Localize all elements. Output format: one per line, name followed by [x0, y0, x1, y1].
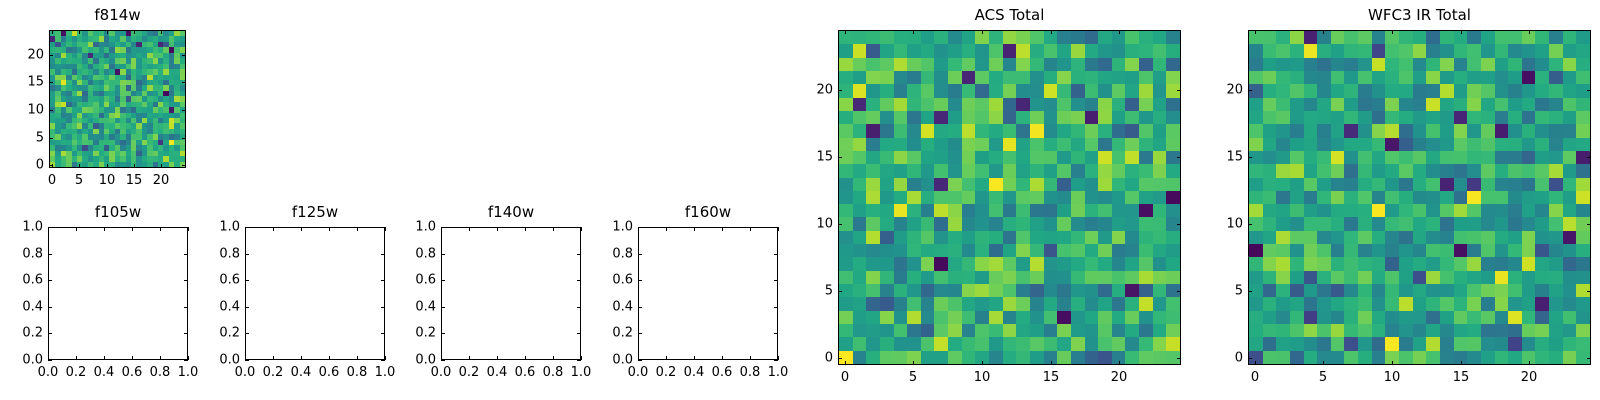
heatmap-cell [1044, 71, 1058, 84]
heatmap-cell [1085, 191, 1099, 204]
heatmap-cell [1549, 217, 1563, 230]
x-tick-mark-top [694, 227, 695, 231]
heatmap-cell [1467, 191, 1481, 204]
heatmap-cell [1125, 217, 1139, 230]
heatmap-cell [989, 257, 1003, 270]
heatmap-cell [1030, 271, 1044, 284]
heatmap-cell [1522, 297, 1536, 310]
heatmap-cell [1535, 204, 1549, 217]
heatmap-cell [1563, 191, 1577, 204]
heatmap-cell [1426, 297, 1440, 310]
heatmap-cell [1125, 231, 1139, 244]
y-tick-mark [1248, 291, 1252, 292]
heatmap-cell [1563, 71, 1577, 84]
heatmap-cell [880, 178, 894, 191]
heatmap-cell [1304, 178, 1318, 191]
heatmap-cell [1440, 204, 1454, 217]
heatmap-cell [1413, 31, 1427, 44]
heatmap-cell [1481, 297, 1495, 310]
heatmap-cell [1044, 98, 1058, 111]
heatmap-cell [853, 71, 867, 84]
heatmap-cell [1413, 284, 1427, 297]
heatmap-cell [1317, 204, 1331, 217]
heatmap-cell [1071, 284, 1085, 297]
x-tick-mark-top [982, 30, 983, 34]
heatmap-cell [1263, 98, 1277, 111]
y-tick-mark [245, 254, 249, 255]
heatmap-cell [1563, 244, 1577, 257]
heatmap-cell [1467, 231, 1481, 244]
heatmap-cell [934, 71, 948, 84]
heatmap-cell [1249, 337, 1263, 350]
heatmap-cell [1372, 138, 1386, 151]
y-tick-mark-right [774, 227, 778, 228]
heatmap-cell [1331, 337, 1345, 350]
heatmap-cell [1263, 191, 1277, 204]
heatmap-cell [1276, 164, 1290, 177]
y-tick-label: 5 [1235, 285, 1243, 298]
heatmap-cell [1563, 58, 1577, 71]
heatmap-cell [1508, 58, 1522, 71]
y-tick-label: 1.0 [22, 221, 43, 234]
heatmap-cell [1304, 151, 1318, 164]
heatmap-cell [1495, 71, 1509, 84]
heatmap-cell [975, 297, 989, 310]
heatmap-cell [1454, 111, 1468, 124]
y-tick-mark-right [1177, 224, 1181, 225]
heatmap-cell [948, 204, 962, 217]
x-tick-label: 0.6 [712, 366, 733, 379]
heatmap-cell [1153, 297, 1167, 310]
heatmap-cell [1576, 337, 1590, 350]
heatmap-cell [1317, 58, 1331, 71]
heatmap-cell [866, 31, 880, 44]
heatmap-cell [1153, 111, 1167, 124]
heatmap-cell [921, 178, 935, 191]
heatmap-cell [853, 217, 867, 230]
heatmap-cell [921, 191, 935, 204]
heatmap-cell [948, 138, 962, 151]
x-tick-label: 0.6 [122, 366, 143, 379]
heatmap-cell [1399, 231, 1413, 244]
heatmap-cell [1317, 271, 1331, 284]
heatmap-cell [1304, 58, 1318, 71]
heatmap-cell [1276, 284, 1290, 297]
heatmap-cell [1426, 71, 1440, 84]
y-tick-label: 0.0 [415, 354, 436, 367]
heatmap-cell [948, 311, 962, 324]
heatmap-cell [1166, 257, 1180, 270]
heatmap-cell [1344, 351, 1358, 364]
heatmap-cell [1166, 178, 1180, 191]
heatmap-cell [1249, 138, 1263, 151]
heatmap-cell [1016, 111, 1030, 124]
heatmap-cell [1331, 98, 1345, 111]
heatmap-cell [1030, 217, 1044, 230]
heatmap-cell [1372, 351, 1386, 364]
heatmap-cell [1276, 257, 1290, 270]
x-tick-label: 20 [1111, 371, 1128, 384]
heatmap-cell [1071, 138, 1085, 151]
x-tick-mark-top [160, 227, 161, 231]
heatmap-cell [1413, 71, 1427, 84]
heatmap-cell [1139, 164, 1153, 177]
heatmap-cell [921, 351, 935, 364]
heatmap-cell [921, 31, 935, 44]
heatmap-cell [1535, 124, 1549, 137]
heatmap-cell [934, 257, 948, 270]
heatmap-cell [1057, 271, 1071, 284]
heatmap-cell [1563, 351, 1577, 364]
heatmap-cell [1044, 124, 1058, 137]
heatmap-cell [934, 271, 948, 284]
heatmap-cell [1344, 204, 1358, 217]
heatmap-cell [1139, 204, 1153, 217]
heatmap-cell [1426, 337, 1440, 350]
y-tick-mark [638, 227, 642, 228]
heatmap-cell [1153, 138, 1167, 151]
heatmap-cell [1290, 98, 1304, 111]
heatmap-cell [1317, 164, 1331, 177]
heatmap-cell [1495, 178, 1509, 191]
y-tick-mark [1248, 90, 1252, 91]
x-tick-mark [553, 356, 554, 360]
heatmap-cell [1057, 151, 1071, 164]
heatmap-cell [1385, 244, 1399, 257]
x-tick-label: 0.8 [543, 366, 564, 379]
heatmap-cell [1454, 44, 1468, 57]
y-tick-mark [441, 254, 445, 255]
y-tick-mark [441, 333, 445, 334]
heatmap-cell [962, 204, 976, 217]
heatmap-cell [1563, 151, 1577, 164]
heatmap-cell [1317, 324, 1331, 337]
heatmap-cell [1331, 311, 1345, 324]
heatmap-cell [853, 297, 867, 310]
heatmap-cell [880, 244, 894, 257]
y-tick-mark [245, 227, 249, 228]
heatmap-cell [1030, 204, 1044, 217]
heatmap-cell [1549, 351, 1563, 364]
x-tick-label: 1.0 [178, 366, 199, 379]
x-tick-mark [722, 356, 723, 360]
heatmap-cell [894, 284, 908, 297]
heatmap-cell [1044, 84, 1058, 97]
heatmap-cell [1016, 98, 1030, 111]
heatmap-cell [1030, 244, 1044, 257]
x-tick-mark [161, 164, 162, 168]
heatmap-cell [1344, 257, 1358, 270]
heatmap-cell [1166, 231, 1180, 244]
subplot-title-wfc3-ir-total: WFC3 IR Total [1248, 8, 1591, 23]
subplot-f814w: f814w0510152005101520 [49, 30, 186, 168]
y-tick-label: 10 [1226, 218, 1243, 231]
heatmap-cell [1030, 84, 1044, 97]
heatmap-cell [907, 58, 921, 71]
axes-f105w [48, 227, 188, 360]
heatmap-cell [907, 297, 921, 310]
heatmap-cell [1426, 217, 1440, 230]
heatmap-cell [1003, 204, 1017, 217]
heatmap-cell [1454, 244, 1468, 257]
heatmap-cell [1372, 31, 1386, 44]
heatmap-cell [1139, 351, 1153, 364]
heatmap-cell [1426, 178, 1440, 191]
heatmap-cell [1317, 44, 1331, 57]
heatmap-cell [1481, 71, 1495, 84]
heatmap-cell [1508, 84, 1522, 97]
heatmap-cell [1454, 204, 1468, 217]
heatmap-cell [894, 58, 908, 71]
heatmap-cell [1508, 204, 1522, 217]
heatmap-cell [1413, 337, 1427, 350]
heatmap-cell [1535, 178, 1549, 191]
x-tick-mark-top [301, 227, 302, 231]
heatmap-cell [1016, 58, 1030, 71]
heatmap-cell [1317, 297, 1331, 310]
y-tick-mark-right [577, 227, 581, 228]
x-tick-mark-top [1392, 30, 1393, 34]
heatmap-cell [1003, 257, 1017, 270]
x-tick-label: 0 [841, 371, 849, 384]
heatmap-cell [934, 297, 948, 310]
heatmap-cell [1535, 351, 1549, 364]
heatmap-cell [1263, 324, 1277, 337]
heatmap-cell [1331, 284, 1345, 297]
heatmap-cell [989, 231, 1003, 244]
heatmap-cell [1385, 271, 1399, 284]
heatmap-cell [1304, 231, 1318, 244]
heatmap-cell [1071, 191, 1085, 204]
x-tick-mark [1323, 361, 1324, 365]
heatmap-cell [1413, 244, 1427, 257]
heatmap-cell [1304, 217, 1318, 230]
heatmap-cell [894, 297, 908, 310]
heatmap-cell [1413, 98, 1427, 111]
heatmap-cell [866, 257, 880, 270]
heatmap-cell [1372, 151, 1386, 164]
y-tick-mark [838, 291, 842, 292]
heatmap-cell [1317, 151, 1331, 164]
heatmap-cell [1440, 31, 1454, 44]
heatmap-cell [1276, 271, 1290, 284]
heatmap-cell [1358, 217, 1372, 230]
heatmap-cell [1372, 231, 1386, 244]
heatmap-cell [934, 284, 948, 297]
heatmap-cell [962, 351, 976, 364]
heatmap-cell [1576, 58, 1590, 71]
heatmap-cell [1030, 284, 1044, 297]
heatmap-cell [1535, 138, 1549, 151]
heatmap-cell [1522, 138, 1536, 151]
heatmap-cell [1263, 337, 1277, 350]
x-tick-mark-top [845, 30, 846, 34]
heatmap-cell [1304, 324, 1318, 337]
heatmap-cell [1426, 271, 1440, 284]
heatmap-cell [1563, 257, 1577, 270]
heatmap-cell [1399, 151, 1413, 164]
heatmap-cell [1112, 244, 1126, 257]
heatmap-cell [1263, 217, 1277, 230]
heatmap-cell [1440, 324, 1454, 337]
heatmap-cell [853, 311, 867, 324]
heatmap-cell [1112, 138, 1126, 151]
x-tick-mark-top [1461, 30, 1462, 34]
y-tick-mark [638, 307, 642, 308]
heatmap-cell [1016, 164, 1030, 177]
heatmap-cell [1030, 178, 1044, 191]
heatmap-cell [1112, 111, 1126, 124]
x-tick-mark [76, 356, 77, 360]
x-tick-mark [104, 356, 105, 360]
y-tick-label: 15 [1226, 151, 1243, 164]
y-tick-label: 10 [816, 218, 833, 231]
heatmap-cell [853, 204, 867, 217]
heatmap-cell [1125, 337, 1139, 350]
heatmap-cell [1563, 271, 1577, 284]
heatmap-cell [866, 71, 880, 84]
heatmap-cell [921, 164, 935, 177]
heatmap-cell [1563, 217, 1577, 230]
heatmap-cell [1549, 31, 1563, 44]
heatmap-cell [1563, 124, 1577, 137]
x-tick-mark-top [79, 30, 80, 34]
heatmap-cell [1481, 217, 1495, 230]
heatmap-cell [1085, 84, 1099, 97]
heatmap-cell [1372, 324, 1386, 337]
heatmap-cell [880, 98, 894, 111]
heatmap-cell [839, 337, 853, 350]
y-tick-label: 0.4 [219, 301, 240, 314]
heatmap-cell [1263, 297, 1277, 310]
heatmap-cell [1344, 217, 1358, 230]
x-tick-mark-top [107, 30, 108, 34]
heatmap-cell [1467, 151, 1481, 164]
heatmap-cell [1153, 71, 1167, 84]
heatmap-cell [1440, 191, 1454, 204]
heatmap-cell [934, 111, 948, 124]
heatmap-cell [853, 111, 867, 124]
heatmap-cell [1344, 138, 1358, 151]
heatmap-cell [1166, 324, 1180, 337]
heatmap-cell [1057, 257, 1071, 270]
x-tick-mark-top [1529, 30, 1530, 34]
heatmap-cell [1112, 297, 1126, 310]
heatmap-cell [1125, 351, 1139, 364]
heatmap-cell [1576, 191, 1590, 204]
heatmap-cell [1372, 58, 1386, 71]
heatmap-cell [1549, 44, 1563, 57]
heatmap-cell [1495, 351, 1509, 364]
heatmap-cell [1508, 44, 1522, 57]
y-tick-mark-right [184, 254, 188, 255]
heatmap-cell [839, 244, 853, 257]
heatmap-cell [1467, 204, 1481, 217]
x-tick-label: 0.0 [628, 366, 649, 379]
heatmap-cell [1549, 284, 1563, 297]
heatmap-cell [1331, 257, 1345, 270]
heatmap-cell [1576, 297, 1590, 310]
heatmap-cell [989, 337, 1003, 350]
heatmap-cell [1317, 217, 1331, 230]
heatmap-cell [934, 337, 948, 350]
heatmap-cell [1576, 231, 1590, 244]
x-tick-label: 5 [909, 371, 917, 384]
heatmap-cell [1112, 191, 1126, 204]
heatmap-cell [1481, 44, 1495, 57]
heatmap-cell [1030, 164, 1044, 177]
x-tick-label: 1.0 [571, 366, 592, 379]
heatmap-cell [1576, 98, 1590, 111]
heatmap-cell [1413, 231, 1427, 244]
heatmap-cell [1372, 204, 1386, 217]
heatmap-cell [1549, 164, 1563, 177]
heatmap-cell [880, 44, 894, 57]
heatmap-f814w [50, 31, 185, 167]
heatmap-cell [1125, 31, 1139, 44]
heatmap-cell [975, 124, 989, 137]
heatmap-cell [1153, 44, 1167, 57]
x-tick-label: 0.8 [150, 366, 171, 379]
heatmap-cell [948, 124, 962, 137]
heatmap-cell [853, 164, 867, 177]
heatmap-cell [1290, 84, 1304, 97]
heatmap-cell [1044, 44, 1058, 57]
heatmap-cell [1317, 191, 1331, 204]
heatmap-cell [1263, 151, 1277, 164]
heatmap-cell [1098, 124, 1112, 137]
heatmap-cell [1344, 271, 1358, 284]
heatmap-cell [1399, 204, 1413, 217]
heatmap-cell [1495, 31, 1509, 44]
heatmap-cell [1044, 257, 1058, 270]
heatmap-cell [866, 244, 880, 257]
heatmap-cell [1166, 71, 1180, 84]
heatmap-cell [1276, 311, 1290, 324]
heatmap-cell [1549, 98, 1563, 111]
heatmap-cell [1071, 151, 1085, 164]
heatmap-cell [1139, 271, 1153, 284]
heatmap-cell [866, 178, 880, 191]
heatmap-cell [1016, 124, 1030, 137]
heatmap-cell [1276, 217, 1290, 230]
y-tick-mark-right [182, 110, 186, 111]
heatmap-cell [934, 217, 948, 230]
heatmap-cell [1263, 111, 1277, 124]
heatmap-cell [1413, 204, 1427, 217]
heatmap-cell [989, 111, 1003, 124]
x-tick-mark [913, 361, 914, 365]
y-tick-mark-right [381, 360, 385, 361]
heatmap-cell [1385, 124, 1399, 137]
heatmap-cell [1016, 231, 1030, 244]
heatmap-cell [1085, 111, 1099, 124]
heatmap-cell [1522, 71, 1536, 84]
heatmap-cell [1044, 324, 1058, 337]
heatmap-cell [1413, 297, 1427, 310]
heatmap-cell [1344, 151, 1358, 164]
y-tick-mark-right [774, 360, 778, 361]
heatmap-cell [1112, 98, 1126, 111]
heatmap-cell [1139, 98, 1153, 111]
x-tick-mark-top [778, 227, 779, 231]
heatmap-cell [1139, 244, 1153, 257]
heatmap-cell [1563, 297, 1577, 310]
heatmap-cell [1317, 257, 1331, 270]
heatmap-cell [1249, 124, 1263, 137]
heatmap-cell [1003, 271, 1017, 284]
x-tick-mark [666, 356, 667, 360]
